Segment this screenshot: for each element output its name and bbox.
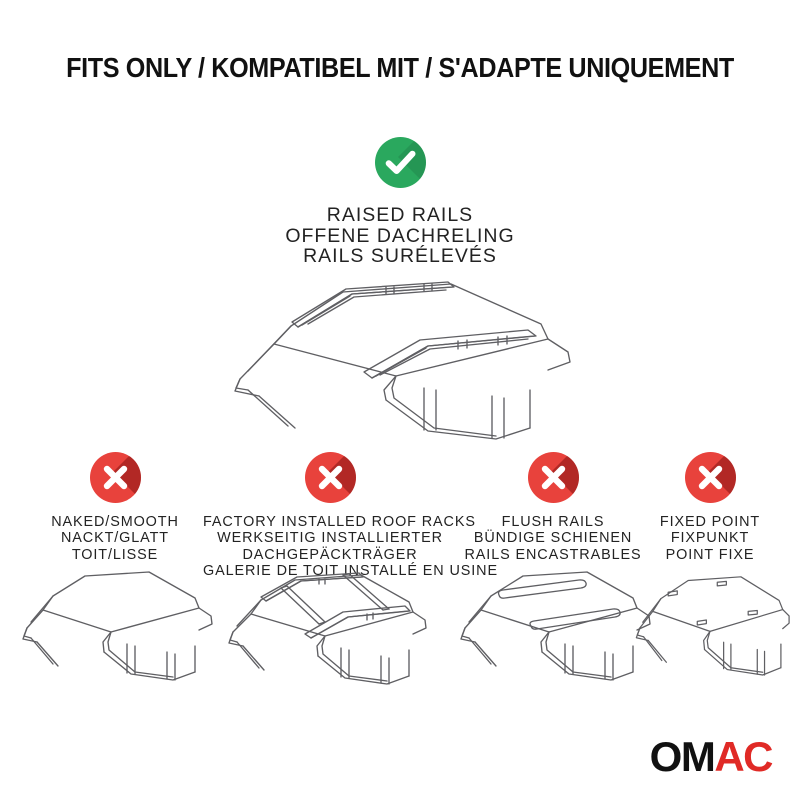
green-check-circle-icon (375, 137, 426, 188)
option-label-line-2: BÜNDIGE SCHIENEN (453, 530, 653, 546)
badge-wrap (630, 452, 790, 504)
option-label-line-1: FACTORY INSTALLED ROOF RACKS (203, 514, 457, 530)
page-title: FITS ONLY / KOMPATIBEL MIT / S'ADAPTE UN… (34, 52, 766, 84)
red-x-circle-icon (90, 452, 141, 503)
incompatible-option-fixed-point: FIXED POINT FIXPUNKT POINT FIXE (630, 452, 790, 563)
fixed-points-illustration (630, 560, 790, 690)
badge-wrap (453, 452, 653, 504)
incompatible-option-flush-rails: FLUSH RAILS BÜNDIGE SCHIENEN RAILS ENCAS… (453, 452, 653, 563)
compatible-section: RAISED RAILS OFFENE DACHRELING RAILS SUR… (0, 137, 800, 267)
omac-logo: OMAC (650, 736, 772, 778)
raised-rails-illustration (196, 278, 606, 453)
flush-rails-illustration (453, 560, 653, 690)
option-label-line-1: NAKED/SMOOTH (15, 514, 215, 530)
option-label-line-2: NACKT/GLATT (15, 530, 215, 546)
badge-wrap (203, 452, 457, 504)
incompatible-option-naked-smooth: NAKED/SMOOTH NACKT/GLATT TOIT/LISSE (15, 452, 215, 563)
red-x-circle-icon (685, 452, 736, 503)
roof-with-crossbars-illustration (203, 542, 457, 690)
option-label-line-1: FIXED POINT (630, 514, 790, 530)
compatible-labels: RAISED RAILS OFFENE DACHRELING RAILS SUR… (0, 205, 800, 267)
option-labels: FLUSH RAILS BÜNDIGE SCHIENEN RAILS ENCAS… (453, 514, 653, 563)
option-label-line-2: FIXPUNKT (630, 530, 790, 546)
logo-text-dark: OM (650, 733, 715, 780)
incompatible-option-factory-roof-racks: FACTORY INSTALLED ROOF RACKS WERKSEITIG … (203, 452, 457, 580)
option-labels: FIXED POINT FIXPUNKT POINT FIXE (630, 514, 790, 563)
compatible-label-fr: RAILS SURÉLEVÉS (0, 246, 800, 267)
red-x-circle-icon (305, 452, 356, 503)
compatible-label-en: RAISED RAILS (0, 205, 800, 226)
red-x-circle-icon (528, 452, 579, 503)
badge-wrap (15, 452, 215, 504)
bare-roof-illustration (15, 560, 215, 690)
logo-text-red: AC (714, 733, 772, 780)
option-labels: NAKED/SMOOTH NACKT/GLATT TOIT/LISSE (15, 514, 215, 563)
compatible-label-de: OFFENE DACHRELING (0, 226, 800, 247)
option-label-line-1: FLUSH RAILS (453, 514, 653, 530)
